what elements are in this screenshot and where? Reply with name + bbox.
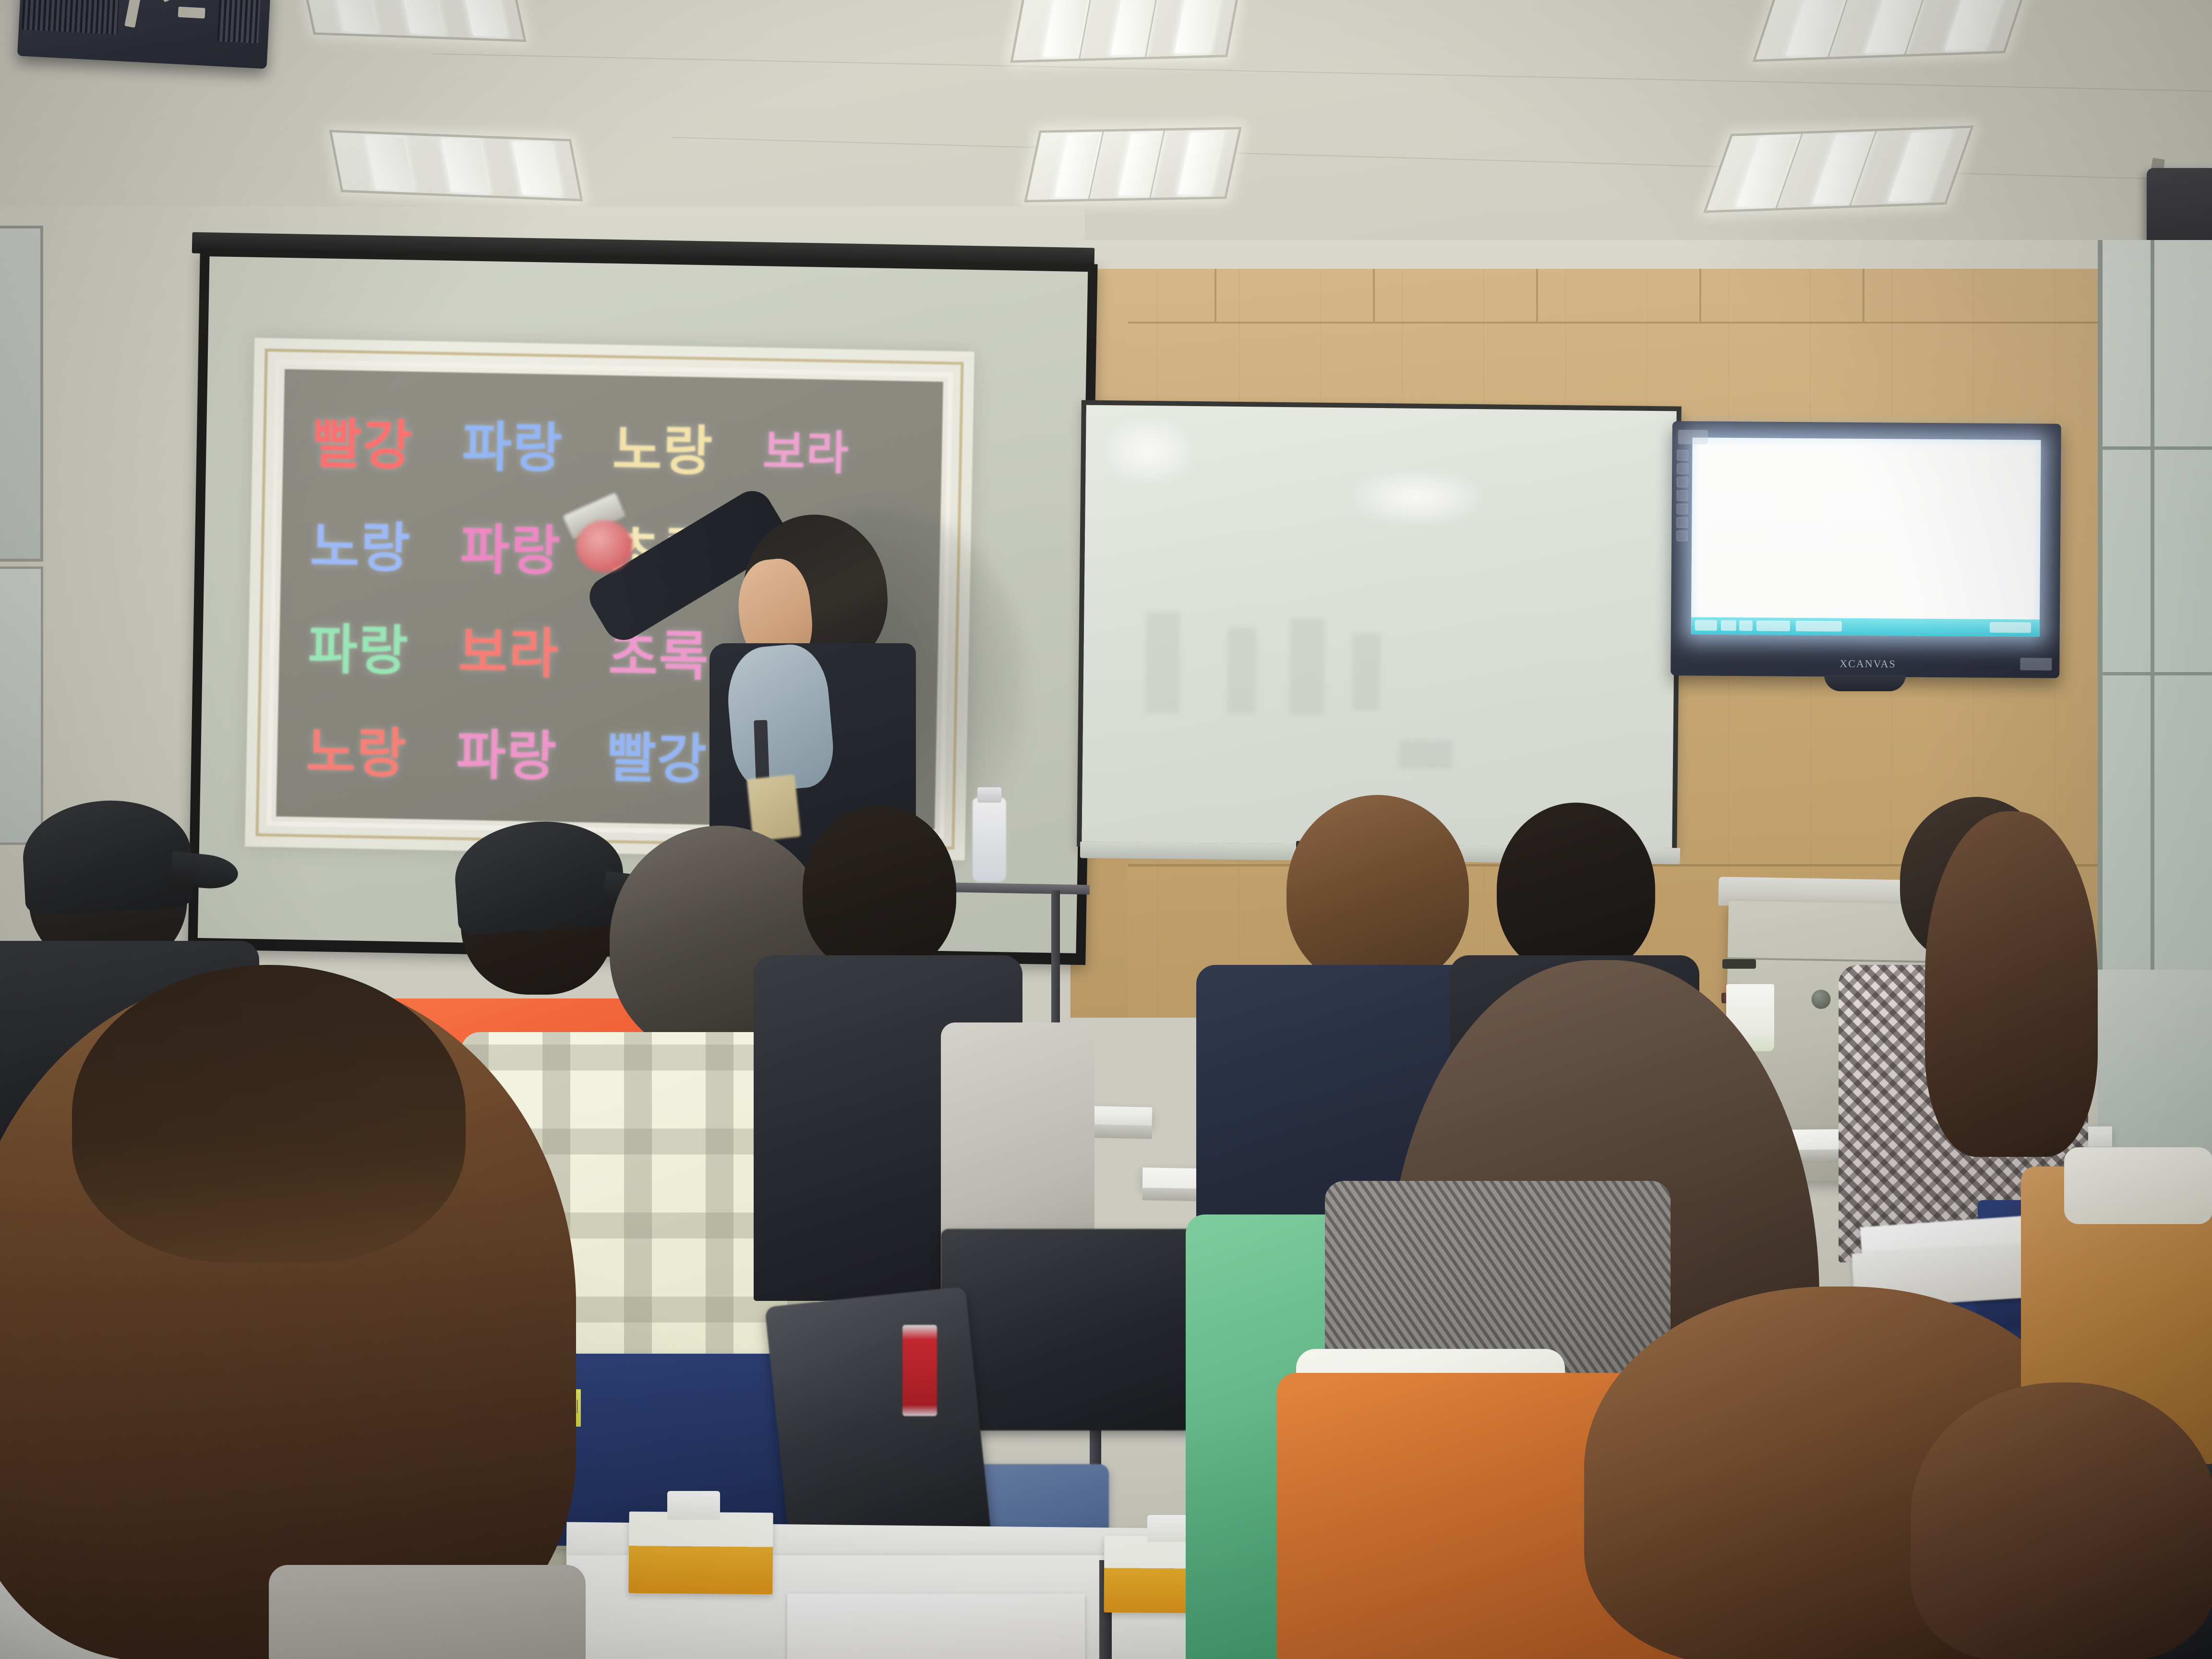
hair bbox=[1911, 1382, 2212, 1659]
left-window bbox=[0, 226, 43, 562]
ceiling-light-fixture bbox=[1703, 125, 1974, 213]
tv-side-buttons[interactable] bbox=[1676, 450, 1688, 541]
stroop-word: 노랑 bbox=[305, 709, 457, 789]
stroop-word: 노랑 bbox=[310, 503, 461, 584]
head bbox=[803, 805, 956, 974]
stroop-word: 파랑 bbox=[456, 711, 607, 792]
classroom-photo-scene: 빨강 파랑 노랑 보라 노랑 파랑 초록 보라 파랑 보라 초록 노랑 파랑 빨… bbox=[0, 0, 2212, 1659]
left-window-lower bbox=[0, 566, 43, 845]
ceiling-light-fixture bbox=[1010, 0, 1241, 63]
tv-taskbar bbox=[1691, 617, 2040, 637]
hair bbox=[1925, 811, 2098, 1157]
leather-jacket-on-chair[interactable] bbox=[765, 1286, 992, 1565]
lectern-handle[interactable] bbox=[1722, 959, 1756, 969]
tv-energy-label bbox=[2020, 658, 2052, 670]
presenter-hand bbox=[576, 520, 633, 572]
tissue-box-left[interactable] bbox=[628, 1512, 773, 1595]
ceiling-light-fixture bbox=[1753, 0, 2031, 62]
paper-sheet[interactable] bbox=[787, 1594, 1085, 1659]
stroop-word: 빨강 bbox=[312, 400, 463, 481]
stroop-row-1: 빨강 파랑 노랑 보라 bbox=[311, 388, 914, 502]
presenter-scarf bbox=[723, 641, 836, 793]
tv-screen bbox=[1691, 437, 2041, 637]
stroop-word: 보라 bbox=[762, 414, 914, 484]
stroop-word: 파랑 bbox=[462, 403, 613, 484]
hair-crown bbox=[72, 965, 466, 1262]
whiteboard bbox=[1077, 400, 1682, 853]
side-table-leg bbox=[1051, 890, 1060, 1030]
torso bbox=[269, 1565, 586, 1659]
head bbox=[1497, 803, 1655, 975]
cola-can[interactable] bbox=[902, 1325, 937, 1416]
stroop-word: 노랑 bbox=[612, 406, 764, 487]
tv-wall-mount bbox=[1824, 675, 1906, 691]
tissue-sheet bbox=[667, 1491, 720, 1520]
ceiling-light-fixture bbox=[329, 130, 583, 201]
bottle-cap bbox=[977, 787, 1001, 803]
stroop-word: 파랑 bbox=[308, 606, 459, 686]
tv-input-label bbox=[1678, 430, 1708, 444]
wall-television[interactable]: XCANVAS bbox=[1671, 421, 2061, 678]
ceiling-light-fixture bbox=[1024, 127, 1242, 202]
knit-collar bbox=[2064, 1147, 2212, 1224]
stroop-word: 보라 bbox=[457, 609, 609, 689]
tv-brand-logo: XCANVAS bbox=[1839, 658, 1896, 671]
water-bottle bbox=[973, 798, 1006, 882]
lectern-lock-knob[interactable] bbox=[1811, 989, 1831, 1009]
right-window-partition bbox=[2098, 240, 2212, 989]
head bbox=[1286, 795, 1469, 987]
